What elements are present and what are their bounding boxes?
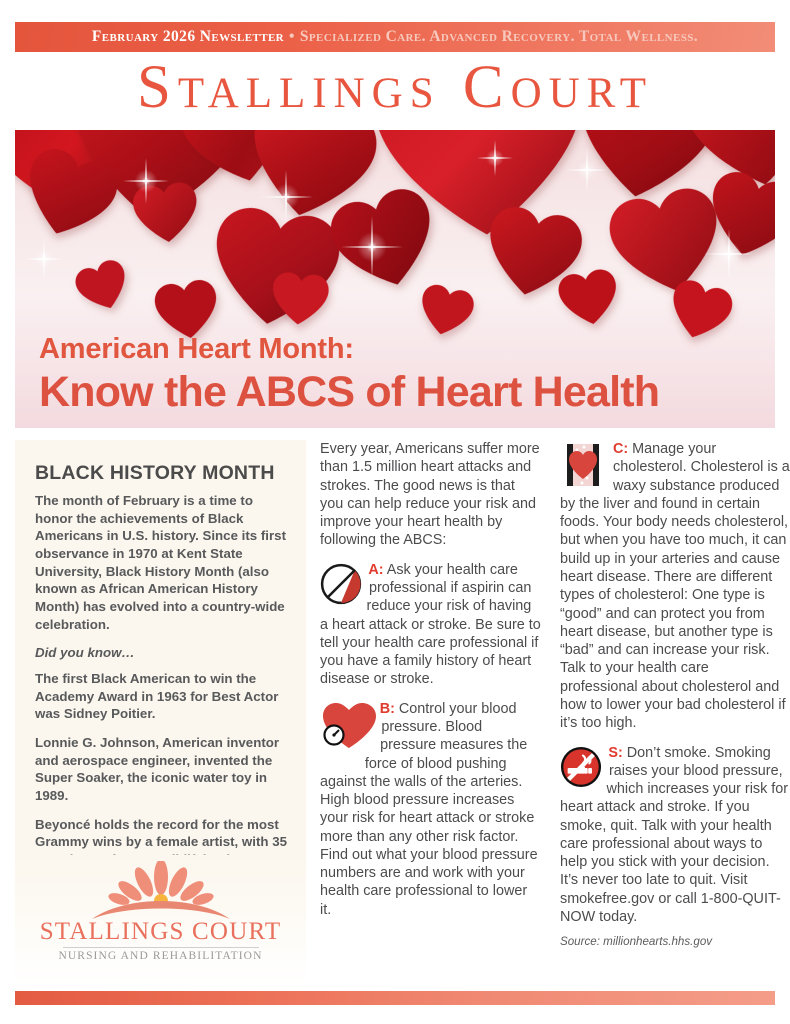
sidebar-panel: BLACK HISTORY MONTH The month of Februar… (15, 440, 306, 985)
aspirin-pill-icon (320, 563, 362, 610)
abcs-item-b: B: Control your blood pressure. Blood pr… (320, 700, 542, 919)
abcs-letter-s: S: (608, 745, 622, 761)
abcs-letter-a: A: (368, 562, 383, 578)
company-logo: STALLINGS COURT NURSING AND REHABILITATI… (15, 855, 306, 985)
hero-headings: American Heart Month: Know the ABCS of H… (39, 333, 761, 416)
footer-bar (15, 991, 775, 1005)
issue-banner: February 2026 Newsletter•Specialized Car… (15, 22, 775, 52)
article-column-middle: Every year, Americans suffer more than 1… (320, 440, 542, 930)
sidebar-paragraph: The month of February is a time to honor… (35, 492, 288, 633)
lotus-flower-icon (86, 861, 236, 923)
issue-banner-text: February 2026 Newsletter•Specialized Car… (92, 28, 698, 46)
tagline: Specialized Care. Advanced Recovery. Tot… (300, 28, 698, 45)
no-smoking-icon (560, 746, 602, 793)
hearts-decoration (15, 130, 775, 320)
source-credit: Source: millionhearts.hhs.gov (560, 935, 790, 948)
article-column-right: C: Manage your cholesterol. Cholesterol … (560, 440, 790, 948)
abcs-item-a: A: Ask your health care professional if … (320, 561, 542, 689)
abcs-letter-b: B: (380, 701, 395, 717)
masthead-title: Stallings Court (0, 56, 790, 120)
hero-headline: Know the ABCS of Heart Health (39, 369, 761, 416)
artery-cholesterol-icon (560, 442, 606, 493)
heart-blood-pressure-icon (320, 702, 376, 755)
sidebar-text-block: BLACK HISTORY MONTH The month of Februar… (15, 440, 306, 886)
heart-shape (414, 281, 478, 342)
article-intro: Every year, Americans suffer more than 1… (320, 440, 542, 550)
sidebar-did-you-know: Did you know… (35, 644, 288, 662)
newsletter-page: February 2026 Newsletter•Specialized Car… (0, 0, 790, 1024)
logo-name: STALLINGS COURT (40, 919, 282, 944)
logo-subtitle: NURSING AND REHABILITATION (58, 950, 262, 962)
sidebar-fact: Lonnie G. Johnson, American inventor and… (35, 734, 288, 805)
content-area: BLACK HISTORY MONTH The month of Februar… (15, 440, 775, 985)
issue-label: February 2026 Newsletter (92, 28, 284, 45)
hero-kicker: American Heart Month: (39, 333, 761, 366)
heart-shape (269, 270, 331, 329)
heart-shape (130, 179, 202, 248)
hero-banner: American Heart Month: Know the ABCS of H… (15, 130, 775, 428)
heart-shape (555, 265, 624, 331)
abcs-letter-c: C: (613, 441, 628, 457)
abcs-item-c: C: Manage your cholesterol. Cholesterol … (560, 440, 790, 733)
sparkle-icon (33, 248, 55, 270)
logo-divider (63, 947, 259, 948)
sidebar-title: BLACK HISTORY MONTH (35, 462, 288, 485)
heart-shape (70, 255, 136, 319)
abcs-item-s: S: Don’t smoke. Smoking raises your bloo… (560, 744, 790, 927)
banner-bullet-icon: • (284, 28, 300, 45)
sidebar-fact: The first Black American to win the Acad… (35, 670, 288, 723)
